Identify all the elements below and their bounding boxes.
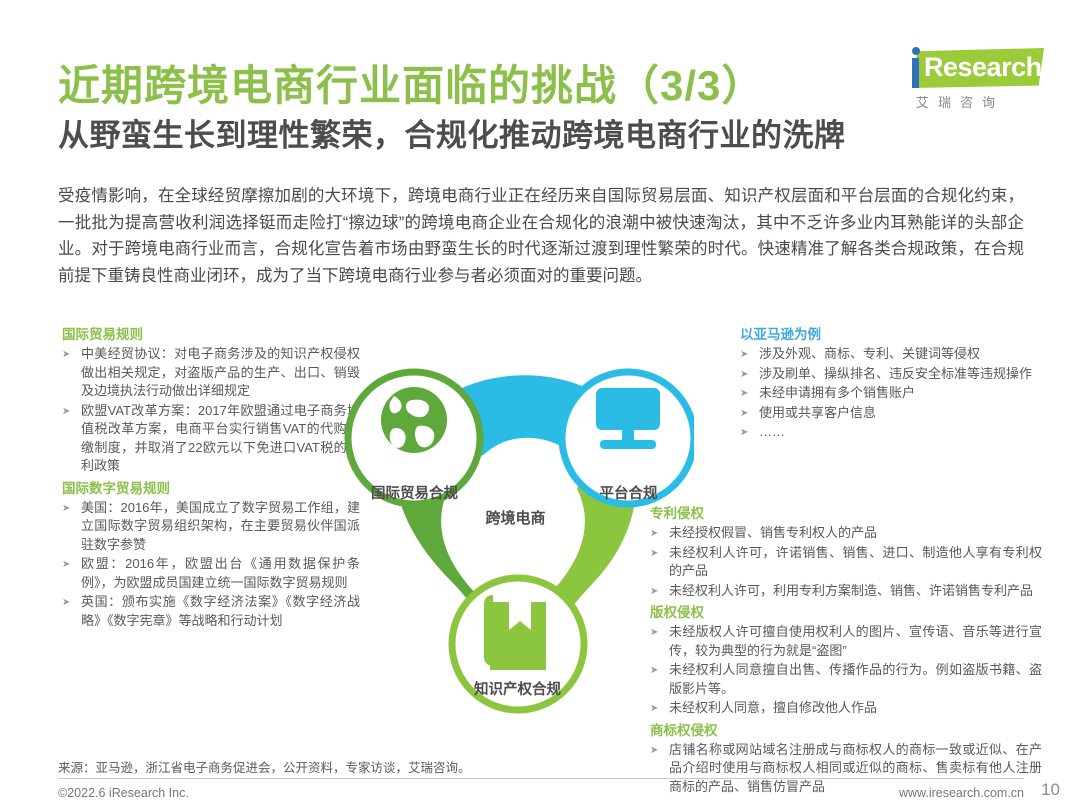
copyright-text: ©2022.6 iResearch Inc.	[58, 786, 189, 800]
block-international-trade-rules: 国际贸易规则 中美经贸协议：对电子商务涉及的知识产权侵权做出相关规定，对盗版产品…	[62, 325, 360, 476]
bottom-right-column: 专利侵权 未经授权假冒、销售专利权人的产品 未经权利人许可，许诺销售、销售、进口…	[650, 504, 1042, 799]
block-heading: 国际数字贸易规则	[62, 479, 360, 498]
slide: 近期跨境电商行业面临的挑战（3/3） 从野蛮生长到理性繁荣，合规化推动跨境电商行…	[0, 0, 1080, 810]
list-item: 未经申请拥有多个销售账户	[740, 384, 1040, 403]
list-item: 欧盟：2016年，欧盟出台《通用数据保护条例》，为欧盟成员国建立统一国际数字贸易…	[62, 555, 360, 592]
block-heading: 版权侵权	[650, 603, 1042, 622]
logo-i-dot-icon	[912, 47, 920, 55]
iresearch-logo: Research 艾瑞咨询	[894, 46, 1046, 112]
source-note: 来源：亚马逊，浙江省电子商务促进会，公开资料，专家访谈，艾瑞咨询。	[58, 757, 471, 776]
page-subtitle: 从野蛮生长到理性繁荣，合规化推动跨境电商行业的洗牌	[58, 110, 846, 155]
intro-paragraph: 受疫情影响，在全球经贸摩擦加剧的大环境下，跨境电商行业正在经历来自国际贸易层面、…	[58, 183, 1024, 289]
book-icon	[484, 595, 546, 670]
node-trade-label: 国际贸易合规	[327, 482, 502, 503]
list-item: 未经授权假冒、销售专利权人的产品	[650, 524, 1042, 543]
page-number: 10	[1041, 780, 1060, 800]
node-platform-label: 平台合规	[576, 482, 681, 503]
logo-wordmark: Research	[924, 52, 1042, 82]
footer-divider	[58, 778, 1024, 779]
website-link[interactable]: www.iresearch.com.cn	[899, 786, 1024, 800]
globe-icon	[381, 387, 447, 453]
block-heading: 以亚马逊为例	[740, 325, 1040, 344]
list-item: 未经权利人同意擅自出售、传播作品的行为。例如盗版书籍、盗版影片等。	[650, 661, 1042, 698]
list-item: 未经权利人同意，擅自修改他人作品	[650, 699, 1042, 718]
block-heading: 商标权侵权	[650, 721, 1042, 740]
page-title: 近期跨境电商行业面临的挑战（3/3）	[58, 52, 764, 113]
logo-i-stem-icon	[912, 58, 919, 88]
block-heading: 国际贸易规则	[62, 325, 360, 344]
block-copyright-infringement: 版权侵权 未经版权人许可擅自使用权利人的图片、宣传语、音乐等进行宣传，较为典型的…	[650, 603, 1042, 718]
block-heading: 专利侵权	[650, 504, 1042, 523]
node-ip-label: 知识产权合规	[430, 678, 605, 699]
list-item: 涉及刷单、操纵排名、违反安全标准等违规操作	[740, 365, 1040, 384]
list-item: 未经权利人许可，利用专利方案制造、销售、许诺销售专利产品	[650, 582, 1042, 601]
block-trademark-infringement: 商标权侵权 店铺名称或网站域名注册成与商标权人的商标一致或近似、在产品介绍时使用…	[650, 721, 1042, 797]
list-item: ……	[740, 423, 1040, 442]
list-item: 未经权利人许可，许诺销售、销售、进口、制造他人享有专利权的产品	[650, 544, 1042, 581]
left-column: 国际贸易规则 中美经贸协议：对电子商务涉及的知识产权侵权做出相关规定，对盗版产品…	[62, 325, 360, 633]
block-patent-infringement: 专利侵权 未经授权假冒、销售专利权人的产品 未经权利人许可，许诺销售、销售、进口…	[650, 504, 1042, 600]
diagram-center-label: 跨境电商	[453, 507, 578, 528]
top-right-column: 以亚马逊为例 涉及外观、商标、专利、关键词等侵权 涉及刷单、操纵排名、违反安全标…	[740, 325, 1040, 445]
list-item: 未经版权人许可擅自使用权利人的图片、宣传语、音乐等进行宣传，较为典型的行为就是“…	[650, 623, 1042, 660]
compliance-diagram: 国际贸易合规 平台合规 知识产权合规 跨境电商	[332, 352, 694, 714]
list-item: 使用或共享客户信息	[740, 404, 1040, 423]
list-item: 欧盟VAT改革方案：2017年欧盟通过电子商务增值税改革方案，电商平台实行销售V…	[62, 402, 360, 476]
bullet-list: 未经版权人许可擅自使用权利人的图片、宣传语、音乐等进行宣传，较为典型的行为就是“…	[650, 623, 1042, 718]
logo-chinese-name: 艾瑞咨询	[916, 92, 1044, 111]
list-item: 英国：颁布实施《数字经济法案》《数字经济战略》《数字宪章》等战略和行动计划	[62, 593, 360, 630]
diagram-svg	[332, 352, 694, 714]
logo-mark: Research	[894, 46, 1046, 90]
bullet-list: 美国：2016年，美国成立了数字贸易工作组，建立国际数字贸易组织架构，在主要贸易…	[62, 499, 360, 631]
list-item: 涉及外观、商标、专利、关键词等侵权	[740, 345, 1040, 364]
list-item: 美国：2016年，美国成立了数字贸易工作组，建立国际数字贸易组织架构，在主要贸易…	[62, 499, 360, 555]
bullet-list: 未经授权假冒、销售专利权人的产品 未经权利人许可，许诺销售、销售、进口、制造他人…	[650, 524, 1042, 600]
list-item: 中美经贸协议：对电子商务涉及的知识产权侵权做出相关规定，对盗版产品的生产、出口、…	[62, 345, 360, 401]
bullet-list: 涉及外观、商标、专利、关键词等侵权 涉及刷单、操纵排名、违反安全标准等违规操作 …	[740, 345, 1040, 442]
bullet-list: 中美经贸协议：对电子商务涉及的知识产权侵权做出相关规定，对盗版产品的生产、出口、…	[62, 345, 360, 476]
block-amazon-example: 以亚马逊为例 涉及外观、商标、专利、关键词等侵权 涉及刷单、操纵排名、违反安全标…	[740, 325, 1040, 442]
block-international-digital-trade-rules: 国际数字贸易规则 美国：2016年，美国成立了数字贸易工作组，建立国际数字贸易组…	[62, 479, 360, 631]
